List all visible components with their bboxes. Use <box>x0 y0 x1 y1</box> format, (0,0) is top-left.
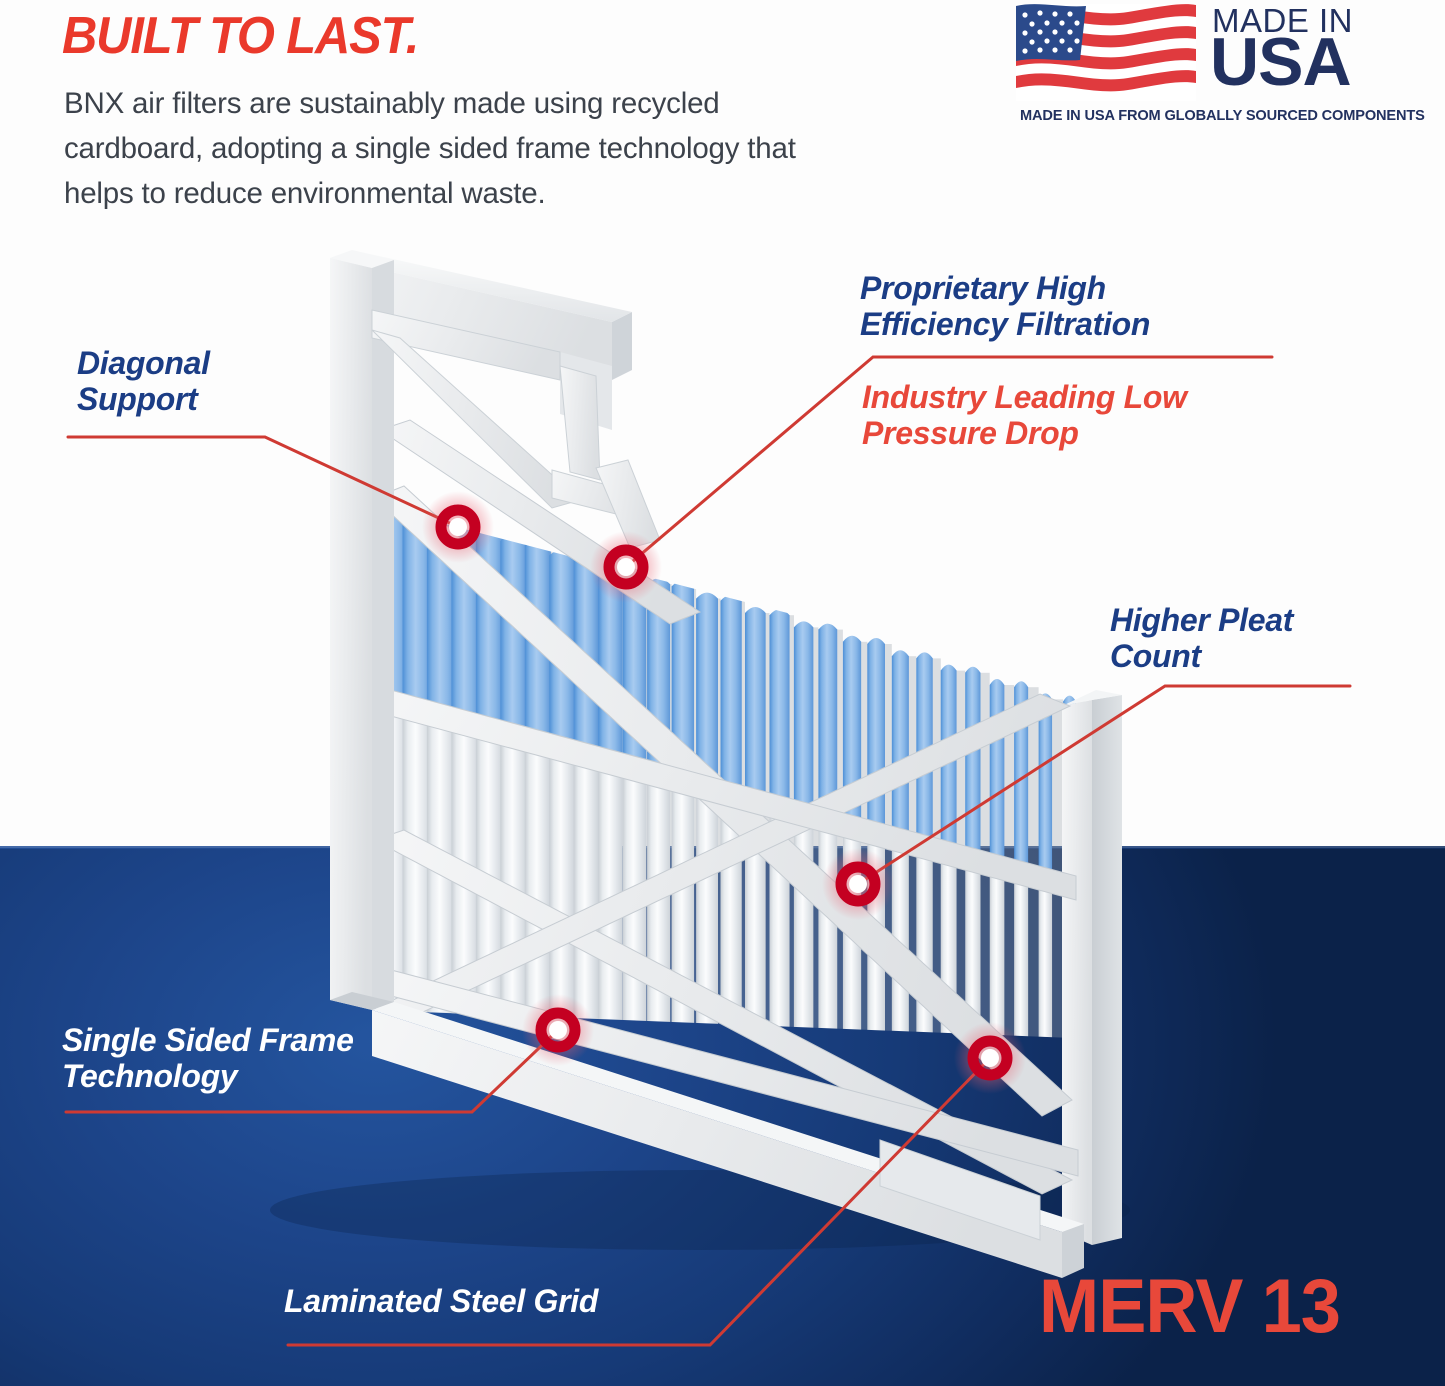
badge-disclaimer: MADE IN USA FROM GLOBALLY SOURCED COMPON… <box>1020 108 1406 124</box>
callout-line-2: Count <box>1110 638 1293 674</box>
callout-proprietary-filtration: Proprietary High Efficiency Filtration <box>860 270 1150 343</box>
usa-flag-icon <box>1016 4 1196 101</box>
merv-rating-badge: MERV 13 <box>1039 1263 1340 1350</box>
callout-line-1: Diagonal <box>77 345 210 381</box>
callout-low-pressure-drop: Industry Leading Low Pressure Drop <box>862 379 1187 452</box>
page-body-copy: BNX air filters are sustainably made usi… <box>64 82 864 216</box>
callout-line-1: Higher Pleat <box>1110 602 1293 638</box>
badge-usa-label: USA <box>1210 28 1351 96</box>
callout-line-2: Efficiency Filtration <box>860 306 1150 342</box>
navy-edge-highlight <box>0 846 1445 849</box>
callout-line-1: Single Sided Frame <box>62 1022 354 1058</box>
callout-higher-pleat-count: Higher Pleat Count <box>1110 602 1293 675</box>
made-in-usa-badge: MADE IN USA MADE IN USA FROM GLOBALLY SO… <box>1016 2 1406 132</box>
page-headline: BUILT TO LAST. <box>62 6 418 66</box>
callout-diagonal-support: Diagonal Support <box>77 345 210 418</box>
callout-line-2: Technology <box>62 1058 354 1094</box>
callout-single-sided-frame: Single Sided Frame Technology <box>62 1022 354 1095</box>
callout-line-1: Proprietary High <box>860 270 1150 306</box>
callout-line-2: Pressure Drop <box>862 415 1187 451</box>
callout-line-1: Industry Leading Low <box>862 379 1187 415</box>
callout-line-1: Laminated Steel Grid <box>284 1283 598 1319</box>
infographic-canvas: BUILT TO LAST. BNX air filters are susta… <box>0 0 1445 1386</box>
callout-laminated-steel-grid: Laminated Steel Grid <box>284 1283 598 1319</box>
callout-line-2: Support <box>77 381 210 417</box>
